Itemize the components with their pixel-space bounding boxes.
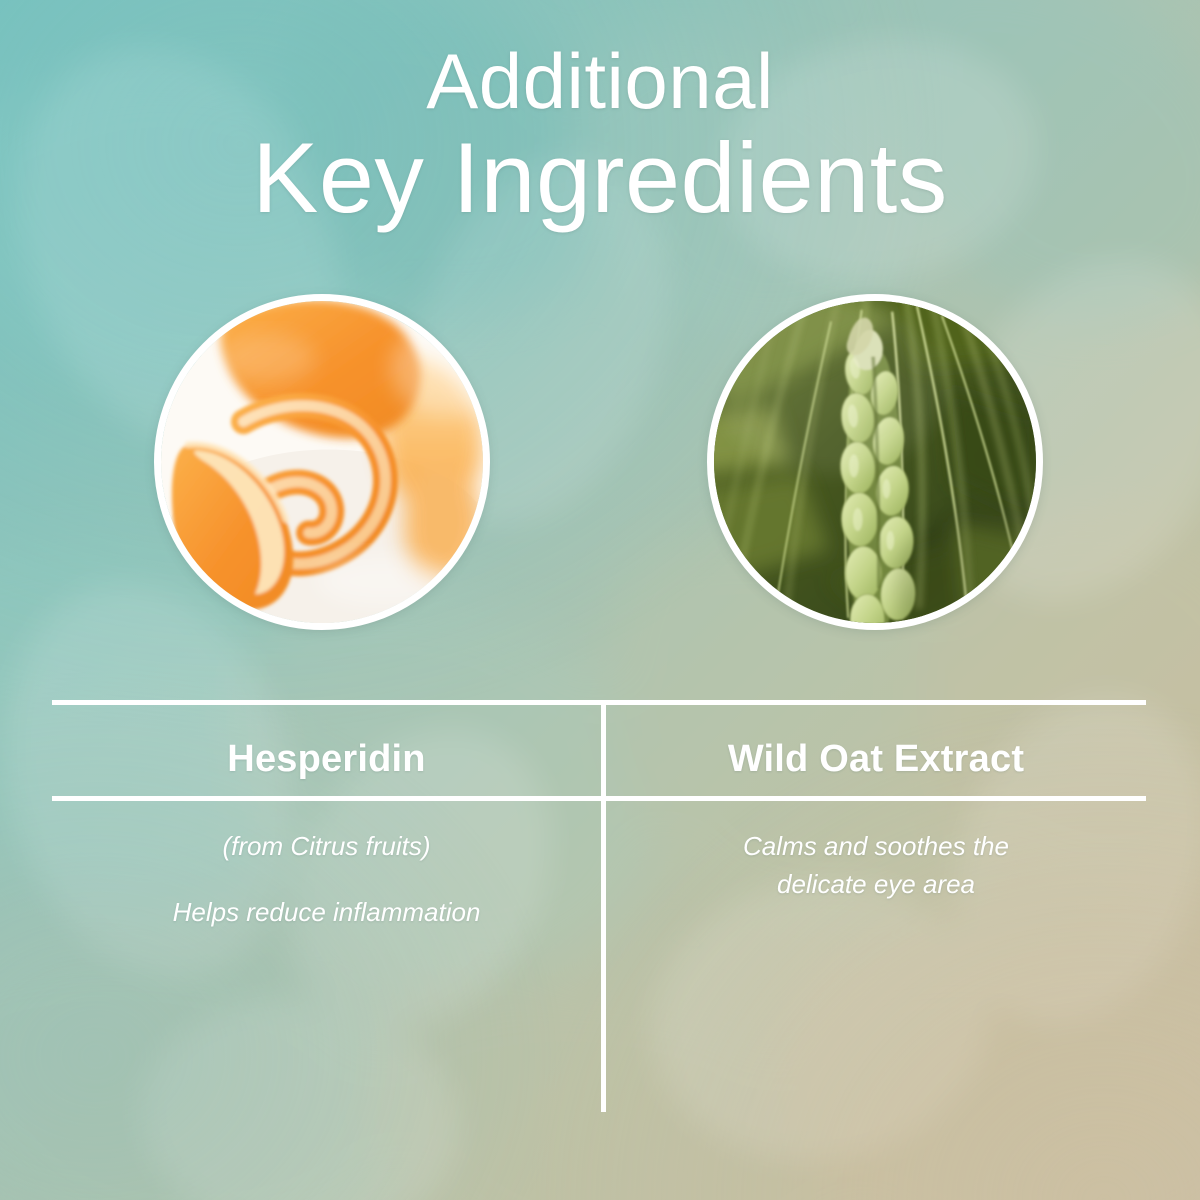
description-line: (from Citrus fruits) [52,828,601,866]
ingredient-description-wild-oat-extract: Calms and soothes the delicate eye area [606,828,1146,903]
divider-bottom [52,796,1146,801]
ingredient-image-wild-oat [707,294,1043,630]
page-title: Additional Key Ingredients [0,42,1200,227]
description-line-part: delicate eye area [606,866,1146,904]
divider-top [52,700,1146,705]
description-line-part: Calms and soothes the [743,831,1009,861]
title-line-2: Key Ingredients [0,128,1200,227]
description-line: Helps reduce inflammation [52,894,601,932]
ingredient-name-hesperidin: Hesperidin [52,722,601,796]
ingredient-infographic: Additional Key Ingredients [0,0,1200,1200]
ingredient-description-hesperidin: (from Citrus fruits) Helps reduce inflam… [52,828,601,931]
title-line-1: Additional [0,42,1200,120]
description-line: Calms and soothes the delicate eye area [606,828,1146,903]
ingredient-name-wild-oat-extract: Wild Oat Extract [606,722,1146,796]
ingredient-image-hesperidin [154,294,490,630]
orange-peel-spiral-icon [161,301,483,623]
oat-stalk-icon [714,301,1036,623]
